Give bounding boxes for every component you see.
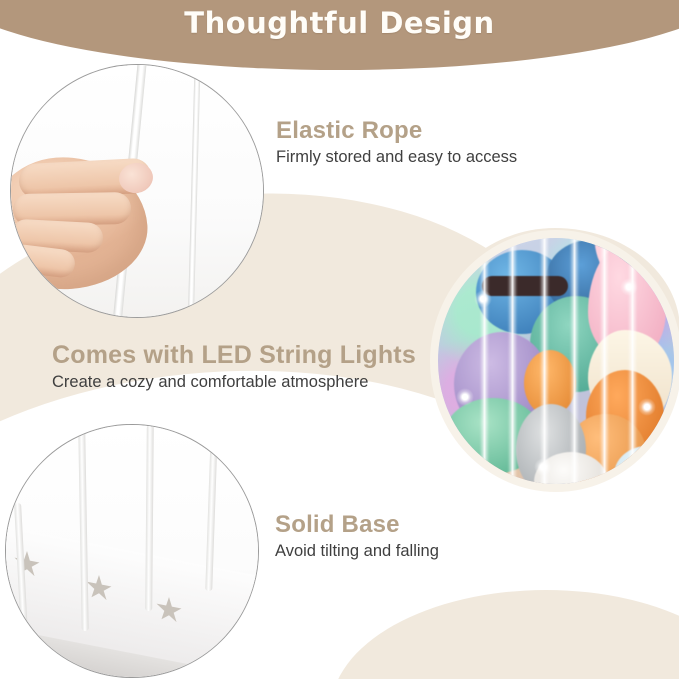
feature-subtitle-elastic-rope: Firmly stored and easy to access — [276, 148, 517, 167]
plush-toy-dark-band — [482, 276, 568, 296]
led-sparkle-2 — [620, 278, 638, 296]
page-title: Thoughtful Design — [0, 6, 679, 40]
feature-heading-led-string-lights: Comes with LED String Lights — [52, 342, 416, 368]
led-sparkle-4 — [638, 398, 656, 416]
feature-subtitle-led-string-lights: Create a cozy and comfortable atmosphere — [52, 373, 416, 392]
storage-bar-3 — [542, 238, 547, 484]
feature-heading-elastic-rope: Elastic Rope — [276, 118, 517, 143]
feature-text-solid-base: Solid Base Avoid tilting and falling — [275, 512, 439, 561]
led-sparkle-3 — [456, 388, 474, 406]
storage-bar-4 — [572, 238, 577, 484]
storage-bar-2 — [510, 238, 515, 484]
feature-heading-solid-base: Solid Base — [275, 512, 439, 537]
photo-solid-base — [5, 424, 259, 678]
storage-bar-1 — [482, 238, 487, 484]
led-sparkle-5 — [534, 458, 552, 476]
led-sparkle-1 — [474, 290, 492, 308]
feature-text-elastic-rope: Elastic Rope Firmly stored and easy to a… — [276, 118, 517, 167]
feature-text-led-string-lights: Comes with LED String Lights Create a co… — [52, 342, 416, 392]
infographic-canvas: Thoughtful Design — [0, 0, 679, 679]
photo-elastic-rope — [10, 64, 264, 318]
storage-bar-5 — [602, 238, 607, 484]
storage-bar-6 — [630, 238, 635, 484]
feature-subtitle-solid-base: Avoid tilting and falling — [275, 542, 439, 561]
photo-led-string-lights — [438, 238, 674, 484]
